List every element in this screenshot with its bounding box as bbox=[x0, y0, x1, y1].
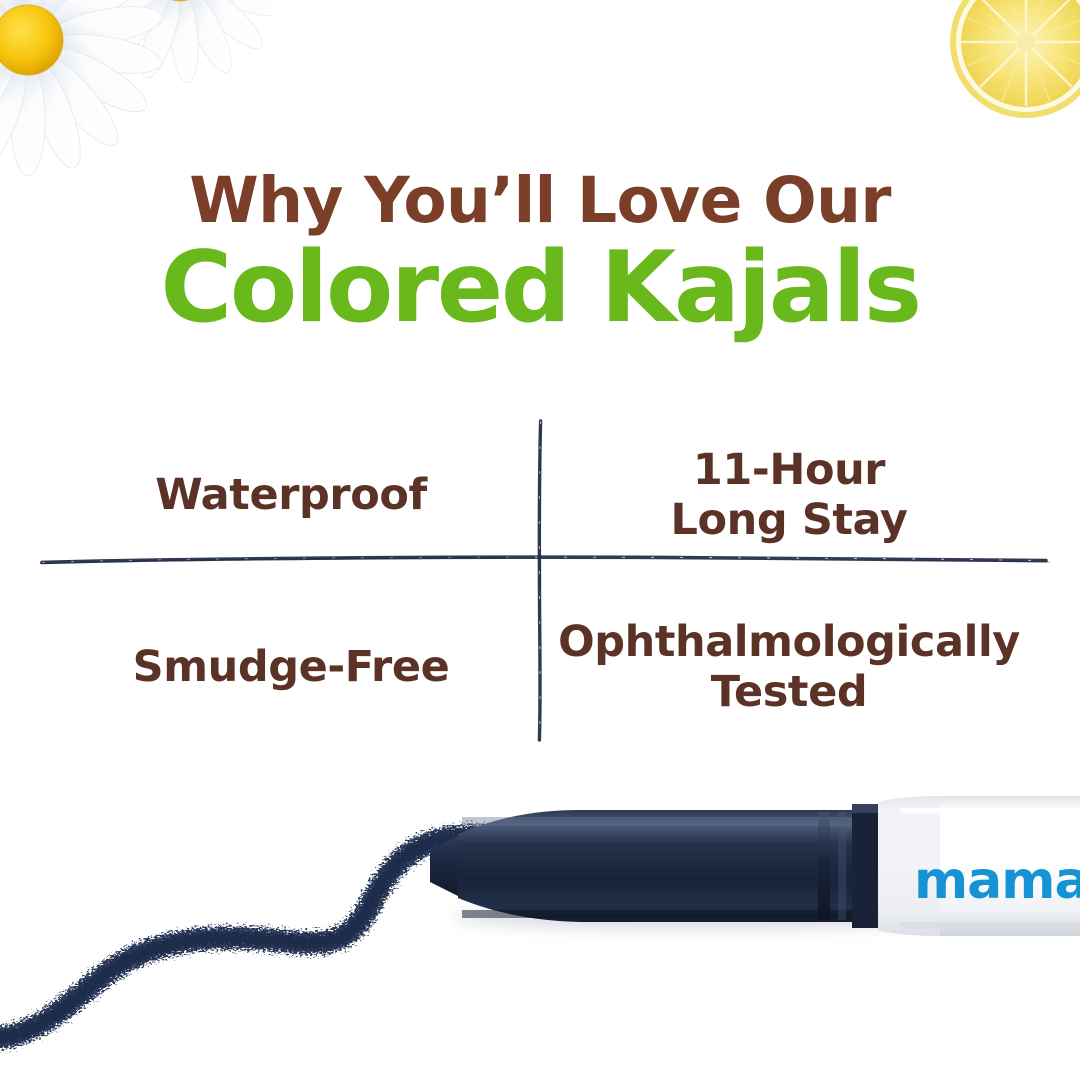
page-title: Why You’ll Love Our Colored Kajals bbox=[0, 168, 1080, 339]
brand-logo-mama: mama bbox=[914, 855, 1080, 907]
kajal-pencil-image bbox=[0, 790, 1080, 1080]
feature-long-stay-line-2: Long Stay bbox=[671, 496, 908, 546]
feature-ophthalmologically-tested: Ophthalmologically Tested bbox=[550, 598, 1028, 738]
lemon-slice-icon bbox=[946, 0, 1080, 144]
feature-long-stay: 11-Hour Long Stay bbox=[550, 426, 1028, 566]
feature-long-stay-line-1: 11-Hour bbox=[671, 446, 908, 496]
feature-ophthalmologically-tested-line-1: Ophthalmologically bbox=[558, 618, 1020, 668]
feature-grid: Waterproof 11-Hour Long Stay Smudge-Free… bbox=[52, 420, 1028, 740]
feature-waterproof: Waterproof bbox=[52, 426, 530, 566]
headline-line-1: Why You’ll Love Our bbox=[0, 168, 1080, 235]
feature-smudge-free: Smudge-Free bbox=[52, 598, 530, 738]
headline-line-2: Colored Kajals bbox=[0, 239, 1080, 339]
infographic-canvas: Why You’ll Love Our Colored Kajals Water… bbox=[0, 0, 1080, 1080]
feature-smudge-free-line-1: Smudge-Free bbox=[133, 643, 450, 693]
feature-waterproof-line-1: Waterproof bbox=[155, 471, 427, 521]
feature-ophthalmologically-tested-line-2: Tested bbox=[558, 668, 1020, 718]
